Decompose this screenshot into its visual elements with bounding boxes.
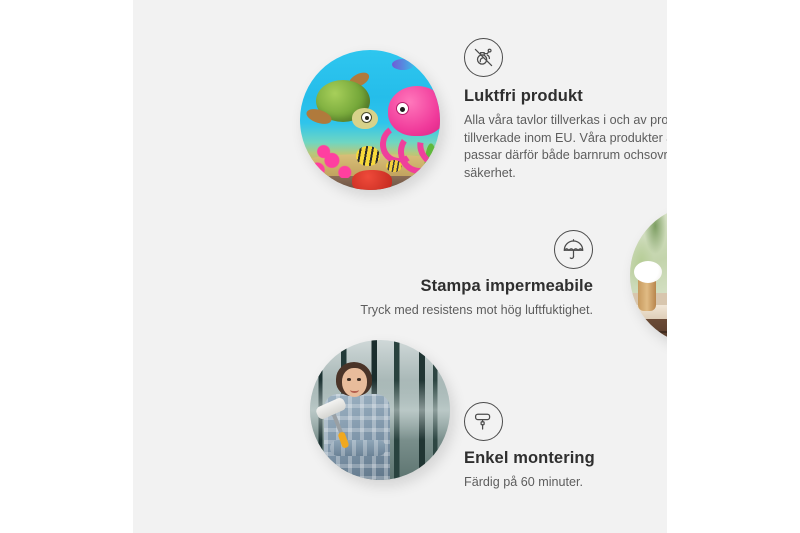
promo-page: Luktfri produkt Alla våra tavlor tillver… <box>0 0 800 533</box>
ocean-coral <box>308 138 354 178</box>
ocean-fish <box>356 146 380 166</box>
feature-title: Luktfri produkt <box>464 87 667 106</box>
bathroom-drawer-divider <box>630 331 667 333</box>
feature-description: Färdig på 60 minuter. <box>464 474 667 492</box>
bathroom-flowers <box>634 261 662 283</box>
woman-smile <box>350 387 359 393</box>
ocean-crab <box>352 170 392 190</box>
feature-title: Stampa impermeabile <box>293 277 593 296</box>
ocean-fish <box>392 59 414 70</box>
no-odour-spray-bottle-icon <box>464 38 503 77</box>
woman-arm <box>330 440 386 456</box>
paint-roller-icon <box>464 402 503 441</box>
umbrella-icon <box>554 230 593 269</box>
feature-title: Enkel montering <box>464 449 667 468</box>
feature-description: Alla våra tavlor tillverkas i och av pro… <box>464 112 667 182</box>
ocean-turtle-eye <box>361 112 372 123</box>
content-panel: Luktfri produkt Alla våra tavlor tillver… <box>133 0 667 533</box>
installer-forest-photo <box>310 340 450 480</box>
ocean-octopus-eye <box>396 102 409 115</box>
feature-odourless: Luktfri produkt Alla våra tavlor tillver… <box>464 38 667 182</box>
woman-eye <box>357 378 361 381</box>
feature-easy-install: Enkel montering Färdig på 60 minuter. <box>464 402 667 492</box>
feature-waterproof: Stampa impermeabile Tryck med resistens … <box>293 230 593 320</box>
feature-description: Tryck med resistens mot hög luftfuktighe… <box>293 302 593 320</box>
underwater-cartoon-photo <box>300 50 440 190</box>
ocean-fish <box>386 160 402 172</box>
bathroom-drawer-handle <box>664 338 667 341</box>
bathroom-wallpaper-photo <box>630 205 667 345</box>
woman-eye <box>347 378 351 381</box>
